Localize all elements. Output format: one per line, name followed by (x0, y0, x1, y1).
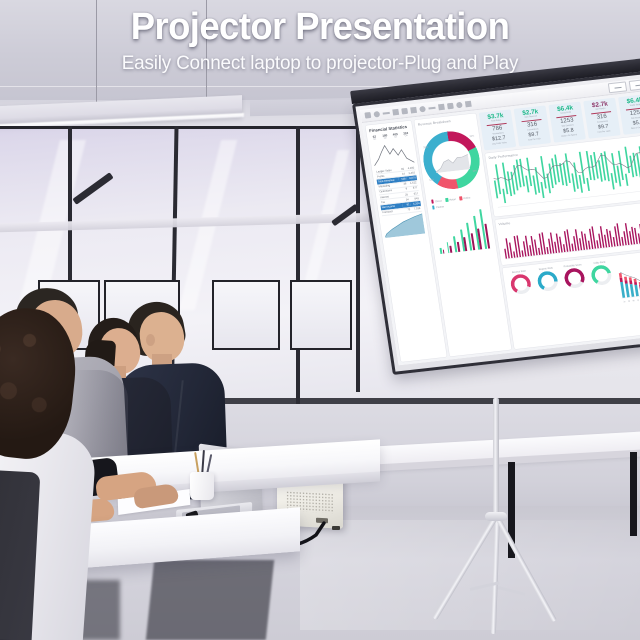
window-mullion (356, 126, 360, 392)
gauge-ring: 42.5% (509, 273, 532, 295)
legend-swatch (431, 199, 434, 203)
bar-pair (460, 229, 468, 251)
quarter-kpi: 180 Q2 (380, 133, 389, 140)
legend-item: Partner (432, 204, 444, 209)
gauge-group: Bounce Rate42.5%Repeat Visits61.2%Probab… (506, 259, 624, 346)
paired-bar-chart (431, 207, 493, 255)
text-icon[interactable] (401, 108, 408, 115)
sort-icon[interactable] (447, 103, 454, 110)
floor-reflection (300, 520, 640, 630)
chart-icon[interactable] (419, 106, 426, 113)
close-button[interactable] (629, 79, 640, 91)
page-subtitle: Easily Connect laptop to projector-Plug … (10, 52, 631, 75)
legend-item: Direct (431, 199, 442, 204)
donut-edge-label: 39% (423, 146, 428, 150)
filter-icon[interactable] (428, 107, 435, 110)
gauge-ring: 38.4% (563, 267, 586, 289)
kpi-card[interactable]: $2.7kNew Revenue316Conversions$9.7Cost P… (514, 105, 551, 146)
save-icon[interactable] (373, 111, 380, 118)
glass-pane (212, 280, 280, 350)
window-mullion (296, 126, 300, 406)
svg-text:Feb: Feb (628, 300, 630, 303)
legend-label: Direct (435, 199, 442, 203)
svg-text:Jan: Jan (623, 301, 625, 304)
stacked-bar-chart: JanFebMarAprMayJunJulAugSepOctNovDec (615, 252, 640, 304)
bar-pair (440, 248, 445, 254)
tripod-hub (485, 512, 507, 521)
svg-text:Mar: Mar (633, 300, 636, 303)
glass-pane (290, 280, 352, 350)
pen-holder (190, 472, 214, 500)
undo-icon[interactable] (383, 112, 390, 115)
kpi-label: Q1 (370, 138, 379, 141)
legend-item: Retail (445, 197, 456, 202)
kpi-card[interactable]: $2.7kNet Margin316Conversions$9.7Cost Pe… (583, 98, 620, 139)
quarter-kpi: 62 Q1 (370, 134, 379, 141)
share-icon[interactable] (465, 101, 472, 108)
channel-mix-card: Bounce Rate42.5%Repeat Visits61.2%Probab… (502, 249, 640, 349)
legend-label: Online (463, 196, 470, 200)
donut-center (433, 147, 470, 173)
donut-chart: 19% 30% 12% 39% (418, 122, 484, 197)
kpi-card[interactable]: $6.4kYearly Target1253Site Sessions$5.8R… (618, 94, 640, 135)
gauge-value: 38.4% (564, 274, 584, 278)
kpi-card[interactable]: $6.4kGross Profit1253Site Sessions$5.8Re… (548, 102, 585, 143)
projection-screen: Financial Statistics 62 Q1 180 Q2 (352, 71, 640, 401)
donut-edge-label: 19% (469, 135, 474, 139)
legend-label: Partner (436, 205, 444, 209)
title-overlay: Projector Presentation Easily Connect la… (0, 8, 640, 75)
bar-pair (446, 242, 452, 253)
growth-area-chart (382, 211, 425, 237)
ear (146, 334, 155, 346)
plus-icon[interactable] (364, 112, 371, 119)
donut-edge-label: 30% (472, 169, 477, 173)
table-shadow (146, 560, 274, 640)
table-leg (630, 452, 637, 536)
quarter-kpi: 405 Q3 (391, 132, 400, 139)
hair-curls (0, 318, 68, 458)
minimize-button[interactable] (608, 81, 627, 93)
bar-pair (453, 236, 460, 252)
tripod-pole (493, 398, 499, 518)
legend-swatch (445, 198, 448, 202)
projector-port (316, 518, 328, 524)
quarter-kpi: 324 Q4 (401, 131, 410, 138)
screenshot-root: Financial Statistics 62 Q1 180 Q2 (0, 0, 640, 640)
legend-item: Online (459, 195, 470, 200)
gauge-value: 61.2% (537, 277, 557, 281)
gauge-value: 42.5% (510, 280, 530, 284)
dashboard-display: Financial Statistics 62 Q1 180 Q2 (360, 78, 640, 366)
table-icon[interactable] (410, 107, 417, 114)
legend-swatch (459, 196, 462, 200)
trend-line-chart (371, 140, 415, 170)
kpi-card[interactable]: $3.7kTotal Sales786Transactions$12.7Avg … (479, 109, 516, 150)
donut-edge-label: 12% (429, 178, 434, 182)
gauge-value: 83.1% (591, 271, 611, 275)
dashboard-body: Financial Statistics 62 Q1 180 Q2 (362, 90, 640, 365)
redo-icon[interactable] (392, 109, 399, 116)
legend-swatch (432, 205, 435, 209)
screen-frame: Financial Statistics 62 Q1 180 Q2 (352, 70, 640, 375)
gauge-ring: 83.1% (590, 264, 613, 286)
link-icon[interactable] (456, 102, 463, 109)
statistics-table: Ledger Sales824,285Profits142,410Total R… (375, 165, 422, 216)
projector-foot (332, 526, 340, 530)
gauge-ring: 61.2% (536, 270, 559, 292)
page-title: Projector Presentation (13, 8, 627, 46)
legend-label: Retail (449, 197, 456, 201)
grid-icon[interactable] (438, 104, 445, 111)
svg-text:Apr: Apr (637, 298, 640, 302)
